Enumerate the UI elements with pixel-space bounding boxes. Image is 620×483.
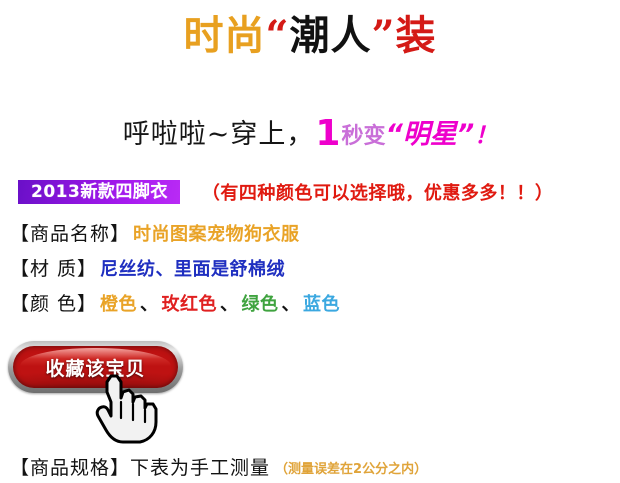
slogan-open-quote-icon: “ [385, 119, 402, 150]
spec-color: 【颜 色】橙色、玫红色、绿色、蓝色 [10, 291, 340, 318]
spec-size-note: （测量误差在2公分之内） [275, 462, 427, 477]
spec-product-name-value: 时尚图案宠物狗衣服 [133, 224, 300, 245]
favorite-button[interactable]: 收藏该宝贝 [8, 341, 183, 393]
spec-color-value-1: 玫红色 [162, 294, 218, 315]
slogan-star-word: 明星 [403, 119, 457, 150]
page-title: 时尚“潮人”装 [0, 12, 620, 60]
spec-product-name-label: 【商品名称】 [10, 223, 130, 245]
new-style-badge: 2013新款四脚衣 [18, 180, 180, 204]
spec-color-value-2: 绿色 [242, 294, 279, 315]
spec-material-label: 【材 质】 [10, 258, 97, 280]
spec-size-value: 下表为手工测量 [130, 457, 270, 479]
slogan: 呼啦啦~穿上，1秒变“明星”！ [0, 112, 620, 160]
slogan-number: 1 [314, 113, 341, 154]
title-open-quote-icon: “ [265, 12, 289, 59]
badge-row: 2013新款四脚衣（有四种颜色可以选择哦，优惠多多！！） [18, 179, 618, 205]
spec-size: 【商品规格】下表为手工测量（测量误差在2公分之内） [10, 455, 427, 483]
slogan-close-quote-icon: ” [457, 119, 474, 150]
slogan-middle: 秒变 [341, 124, 385, 149]
color-options-note: （有四种颜色可以选择哦，优惠多多！！） [202, 179, 554, 205]
spec-color-separator-1: 、 [220, 294, 239, 315]
spec-color-value-3: 蓝色 [303, 294, 340, 315]
slogan-exclamation: ！ [474, 123, 497, 149]
spec-material-value: 尼丝纺、里面是舒棉绒 [100, 259, 285, 280]
favorite-button-label: 收藏该宝贝 [13, 346, 178, 388]
title-part-1: 时尚 [183, 13, 265, 59]
slogan-lead: 呼啦啦~穿上， [123, 119, 315, 150]
favorite-button-wrap[interactable]: 收藏该宝贝 [8, 341, 183, 393]
title-part-3: 装 [396, 13, 437, 59]
spec-color-separator-0: 、 [140, 294, 159, 315]
spec-color-label: 【颜 色】 [10, 293, 97, 315]
spec-size-label: 【商品规格】 [10, 457, 130, 479]
title-part-2: 潮人 [290, 13, 372, 59]
favorite-button-face[interactable]: 收藏该宝贝 [13, 346, 178, 388]
spec-product-name: 【商品名称】时尚图案宠物狗衣服 [10, 221, 300, 248]
title-close-quote-icon: ” [372, 12, 396, 59]
spec-color-separator-2: 、 [282, 294, 301, 315]
spec-material: 【材 质】尼丝纺、里面是舒棉绒 [10, 256, 285, 283]
spec-color-value-0: 橙色 [100, 294, 137, 315]
product-detail-banner: 时尚“潮人”装 呼啦啦~穿上，1秒变“明星”！ 2013新款四脚衣（有四种颜色可… [0, 0, 620, 480]
